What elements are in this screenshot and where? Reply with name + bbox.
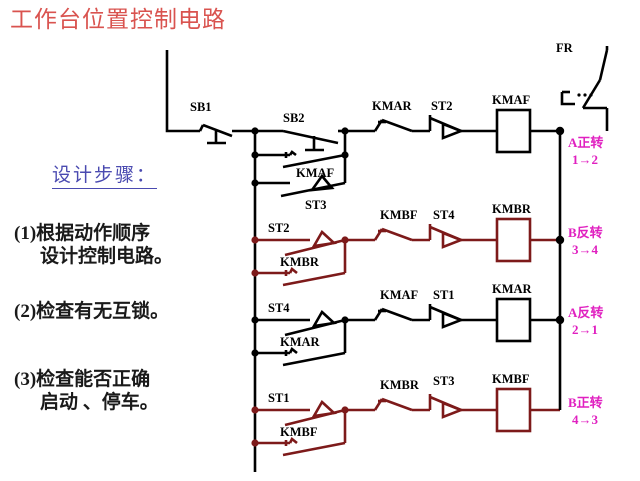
- label-st2-r2: ST2: [268, 221, 290, 235]
- label-st3-r4: ST3: [433, 374, 455, 388]
- annotation-a-reverse-2: 2→1: [572, 322, 598, 337]
- label-st4-r3: ST4: [268, 301, 290, 315]
- annotation-a-reverse-1: A反转: [568, 305, 603, 320]
- coil-kmbf: [497, 389, 530, 431]
- supply-line-left: [167, 50, 200, 131]
- label-kmbr-r4: KMBR: [380, 378, 420, 392]
- coil-kmaf: [497, 110, 530, 152]
- contact-fr-overload: [562, 46, 607, 131]
- annotation-b-forward-2: 4→3: [572, 412, 599, 427]
- annotation-b-forward-1: B正转: [568, 395, 603, 410]
- label-coil-kmbr: KMBR: [492, 202, 532, 216]
- ladder-diagram: SB1: [0, 0, 640, 481]
- label-coil-kmar: KMAR: [492, 282, 533, 296]
- label-st1-r4: ST1: [268, 391, 290, 405]
- label-st1-r3: ST1: [433, 288, 455, 302]
- contact-kmar-interlock: [375, 120, 430, 131]
- coil-kmar: [497, 299, 530, 341]
- rung-a-forward: [255, 131, 375, 196]
- label-kmbf-r2: KMBF: [380, 208, 418, 222]
- label-coil-kmaf: KMAF: [492, 93, 531, 107]
- label-fr: FR: [556, 41, 574, 55]
- label-sb2: SB2: [283, 111, 305, 125]
- annotation-a-forward-1: A正转: [568, 135, 603, 150]
- label-st3-branch: ST3: [305, 198, 327, 212]
- slide-canvas: 工作台位置控制电路 设计步骤： (1)根据动作顺序 设计控制电路。 (2)检查有…: [0, 0, 640, 481]
- coil-kmbr: [497, 219, 530, 261]
- label-kmaf-aux: KMAF: [296, 166, 335, 180]
- contact-sb1: [200, 125, 255, 143]
- annotation-b-reverse-2: 3→4: [572, 242, 599, 257]
- label-kmar-aux: KMAR: [280, 335, 321, 349]
- fr-dots: [577, 93, 592, 96]
- label-kmbf-aux: KMBF: [280, 425, 318, 439]
- annotation-b-reverse-1: B反转: [568, 225, 603, 240]
- contact-st2-r1: [430, 115, 497, 138]
- label-st2-r1: ST2: [431, 99, 453, 113]
- label-kmar-r1: KMAR: [372, 99, 413, 113]
- label-kmbr-aux: KMBR: [280, 255, 320, 269]
- label-coil-kmbf: KMBF: [492, 372, 530, 386]
- label-kmaf-r3: KMAF: [380, 288, 419, 302]
- label-st4-r2: ST4: [433, 208, 455, 222]
- annotation-a-forward-2: 1→2: [572, 152, 598, 167]
- label-sb1: SB1: [190, 100, 212, 114]
